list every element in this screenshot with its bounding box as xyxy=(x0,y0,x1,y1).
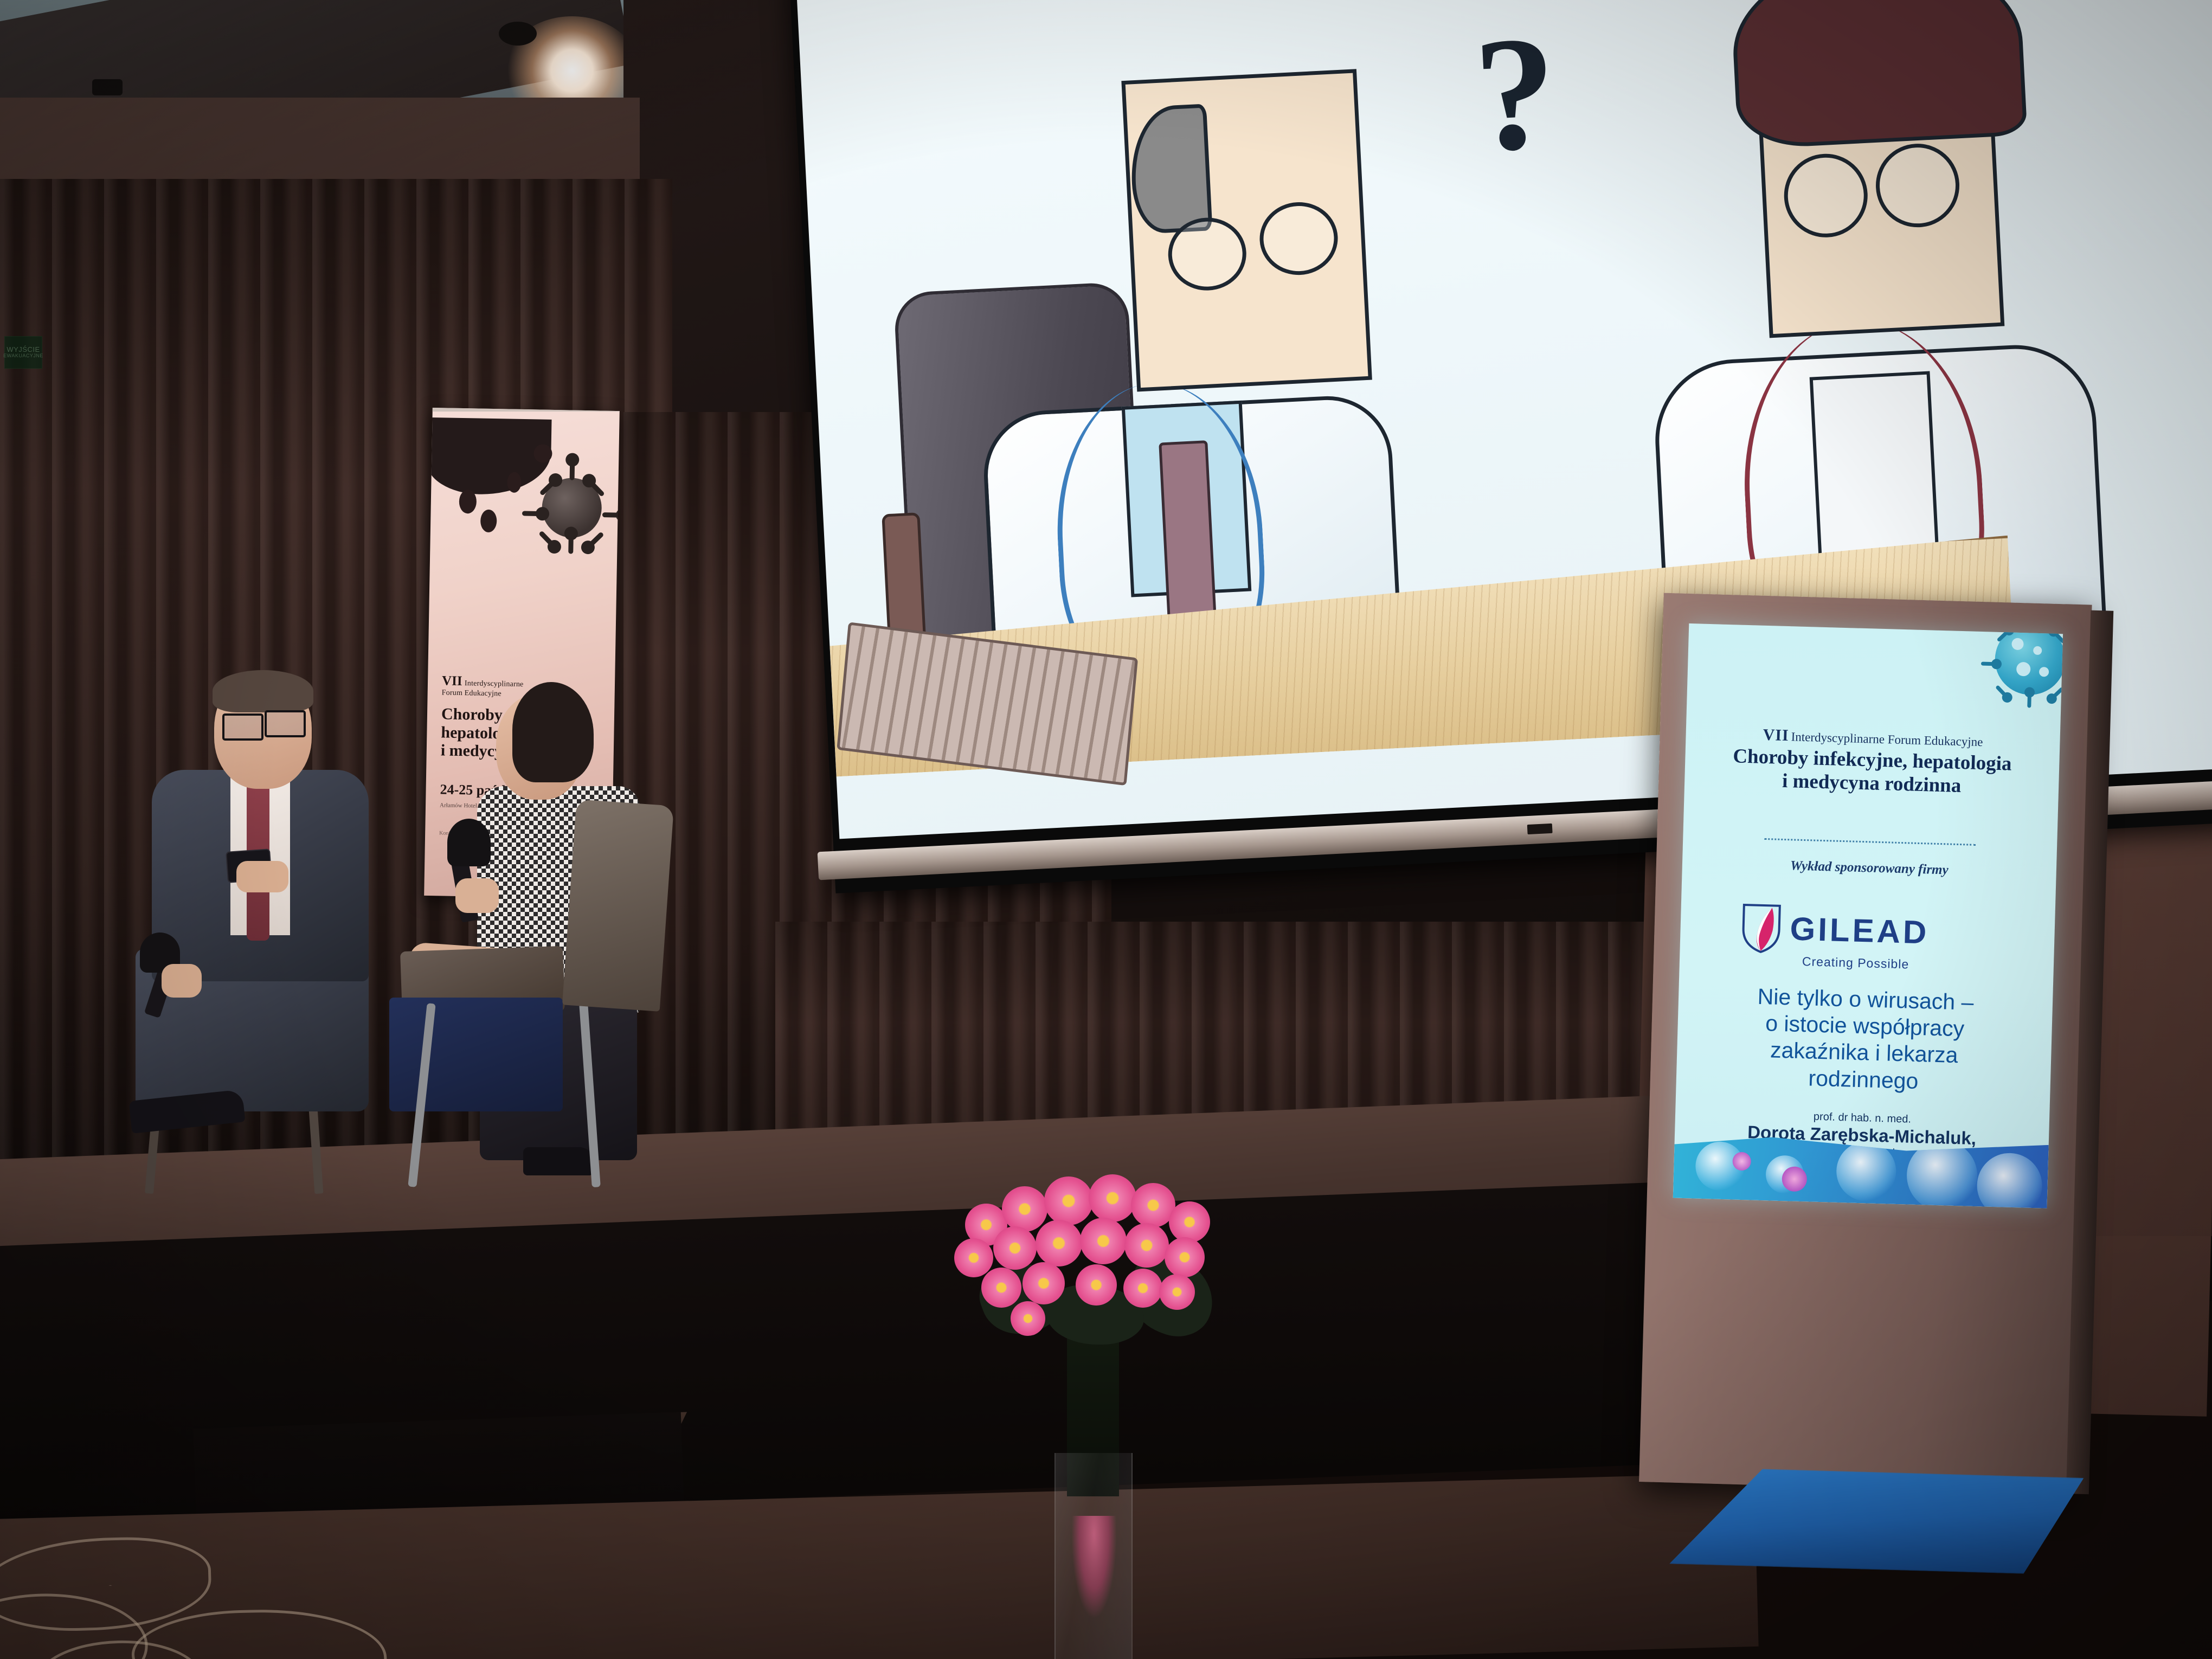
bouquet-flower xyxy=(1036,1220,1082,1266)
virus-spike xyxy=(2027,693,2031,708)
woman-hair xyxy=(512,682,594,782)
footer-germ xyxy=(1836,1141,1897,1202)
flower-bouquet xyxy=(943,1171,1247,1659)
banner-virus-spike xyxy=(602,512,620,518)
banner-virus-icon xyxy=(542,478,602,538)
lectern-virus-icon xyxy=(1994,623,2063,696)
footer-germ xyxy=(1976,1152,2043,1208)
banner-virus-spike xyxy=(588,531,605,548)
bouquet-flower xyxy=(1123,1269,1162,1308)
man-hand-holding-mic xyxy=(162,964,202,998)
woman-hand-holding-mic xyxy=(455,878,499,913)
stage-chair-back xyxy=(562,799,674,1012)
virus-spike xyxy=(1981,661,1995,666)
bouquet-flower xyxy=(1159,1274,1195,1310)
banner-virus-spike xyxy=(539,480,556,496)
banner-virus-spike xyxy=(522,511,541,516)
bouquet-flower xyxy=(1076,1264,1117,1306)
bouquet-flower xyxy=(1002,1186,1047,1232)
man-hair xyxy=(213,670,313,712)
gilead-shield-icon xyxy=(1740,903,1782,954)
bouquet-flower xyxy=(1080,1218,1127,1264)
bouquet-flower xyxy=(1044,1176,1093,1225)
man-hand-holding-phone xyxy=(236,861,288,892)
bouquet-flower xyxy=(981,1268,1021,1308)
bouquet-flower xyxy=(1165,1237,1205,1277)
exit-sign-line-1: WYJŚCIE xyxy=(7,346,40,353)
bouquet-flower xyxy=(1124,1223,1169,1268)
woman-microphone-head xyxy=(447,819,491,866)
virus-dot xyxy=(2039,667,2049,677)
lectern-screen-content: VII Interdyscyplinarne Forum Edukacyjne … xyxy=(1673,623,2063,1208)
banner-virus-spike xyxy=(589,480,605,497)
doctor-right-hair xyxy=(1729,0,2028,150)
gilead-wordmark: GILEAD xyxy=(1790,912,1930,949)
banner-ink-blob xyxy=(426,417,551,496)
bouquet-flower xyxy=(1023,1262,1065,1304)
bouquet-flower xyxy=(1089,1174,1136,1222)
banner-virus-spike xyxy=(568,535,574,554)
lectern-sponsor-label: Wykład sponsorowany firmy xyxy=(1693,856,2046,880)
lectern: VII Interdyscyplinarne Forum Edukacyjne … xyxy=(1638,593,2119,1527)
woman-shoe xyxy=(523,1147,594,1175)
virus-dot xyxy=(2011,638,2024,651)
bouquet-flower xyxy=(954,1238,993,1277)
lectern-forum-name: Interdyscyplinarne Forum Edukacyjne xyxy=(1791,730,1983,749)
ceiling-spotlight-fixture-2 xyxy=(499,22,537,46)
bouquet-flower xyxy=(1011,1301,1045,1336)
stage-bag-blue xyxy=(389,998,563,1111)
bouquet-flower xyxy=(993,1226,1037,1270)
virus-spike xyxy=(1995,685,2008,698)
virus-dot xyxy=(2033,646,2042,655)
vase-ribbon xyxy=(1071,1516,1117,1619)
banner-virus-spike xyxy=(538,530,555,547)
virus-dot xyxy=(2016,662,2031,677)
lectern-display-screen: VII Interdyscyplinarne Forum Edukacyjne … xyxy=(1673,623,2063,1208)
ceiling-spotlight-fixture-1 xyxy=(92,79,123,95)
lectern-edition: VII xyxy=(1763,726,1789,744)
banner-virus-spike xyxy=(570,461,575,480)
banner-ink-drop-2 xyxy=(480,510,497,533)
emergency-exit-sign: WYJŚCIE EWAKUACYJNE xyxy=(4,336,42,369)
man-glasses-lens-right xyxy=(265,710,306,737)
banner-ink-drop-1 xyxy=(459,490,477,514)
man-glasses-lens-left xyxy=(222,713,263,741)
bouquet-flower xyxy=(1169,1201,1210,1243)
question-mark-glyph: ? xyxy=(1471,10,1560,177)
lectern-divider xyxy=(1764,838,1976,846)
exit-sign-line-2: EWAKUACYJNE xyxy=(3,353,43,358)
conference-hall-photo: WYJŚCIE EWAKUACYJNE ? xyxy=(0,0,2212,1659)
screen-brand-plate xyxy=(1527,824,1553,834)
lectern-lecture-title: Nie tylko o wirusach – o istocie współpr… xyxy=(1686,981,2043,1098)
footer-germ-pink xyxy=(1782,1166,1807,1192)
banner-ink-drop-3 xyxy=(507,472,522,492)
lectern-conference-title: Choroby infekcyjne, hepatologia i medycy… xyxy=(1695,744,2049,800)
footer-germ-pink xyxy=(1732,1152,1751,1171)
